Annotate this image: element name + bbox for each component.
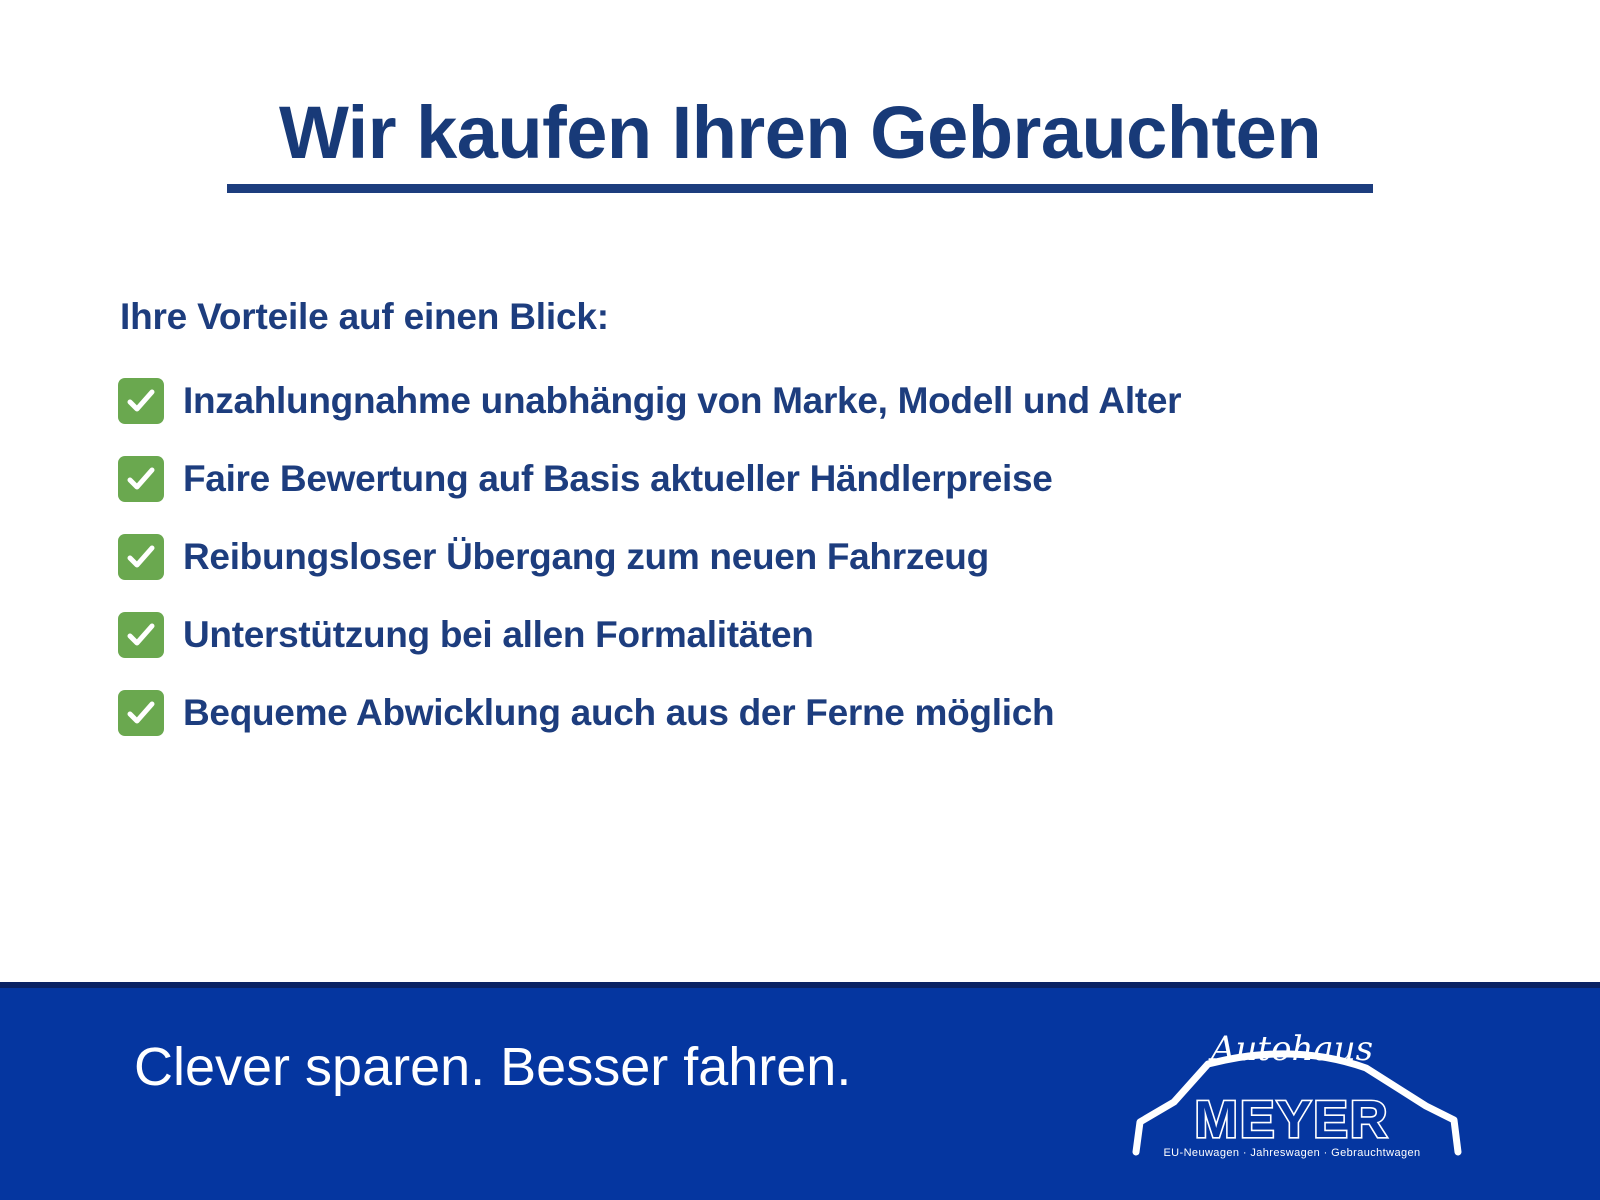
check-icon xyxy=(118,690,164,736)
promo-poster: Wir kaufen Ihren Gebrauchten Ihre Vortei… xyxy=(0,0,1600,1200)
dealer-logo: Autohaus MEYER EU-Neuwagen · Jahreswagen… xyxy=(1116,1002,1468,1170)
list-item: Unterstützung bei allen Formalitäten xyxy=(118,606,1518,664)
footer-band: Clever sparen. Besser fahren. Autohaus M… xyxy=(0,982,1600,1200)
list-item: Reibungsloser Übergang zum neuen Fahrzeu… xyxy=(118,528,1518,586)
list-item-label: Bequeme Abwicklung auch aus der Ferne mö… xyxy=(183,693,1054,734)
check-icon xyxy=(118,534,164,580)
headline-underline xyxy=(227,184,1373,193)
check-icon xyxy=(118,456,164,502)
list-item: Inzahlungnahme unabhängig von Marke, Mod… xyxy=(118,372,1518,430)
page-title: Wir kaufen Ihren Gebrauchten xyxy=(275,96,1325,184)
logo-script-text: Autohaus xyxy=(1208,1029,1373,1069)
footer-band-inner: Clever sparen. Besser fahren. Autohaus M… xyxy=(0,988,1600,1200)
list-item-label: Inzahlungnahme unabhängig von Marke, Mod… xyxy=(183,381,1181,422)
list-item: Faire Bewertung auf Basis aktueller Händ… xyxy=(118,450,1518,508)
check-icon xyxy=(118,612,164,658)
headline-block: Wir kaufen Ihren Gebrauchten xyxy=(0,96,1600,193)
tagline: Clever sparen. Besser fahren. xyxy=(134,1036,851,1098)
logo-subtitle: EU-Neuwagen · Jahreswagen · Gebrauchtwag… xyxy=(1163,1147,1420,1159)
list-item: Bequeme Abwicklung auch aus der Ferne mö… xyxy=(118,684,1518,742)
benefits-section: Ihre Vorteile auf einen Blick: Inzahlung… xyxy=(118,296,1518,762)
logo-word-text: MEYER xyxy=(1195,1091,1390,1149)
benefits-title: Ihre Vorteile auf einen Blick: xyxy=(120,296,1518,338)
list-item-label: Reibungsloser Übergang zum neuen Fahrzeu… xyxy=(183,537,989,578)
list-item-label: Unterstützung bei allen Formalitäten xyxy=(183,615,814,656)
list-item-label: Faire Bewertung auf Basis aktueller Händ… xyxy=(183,459,1053,500)
check-icon xyxy=(118,378,164,424)
